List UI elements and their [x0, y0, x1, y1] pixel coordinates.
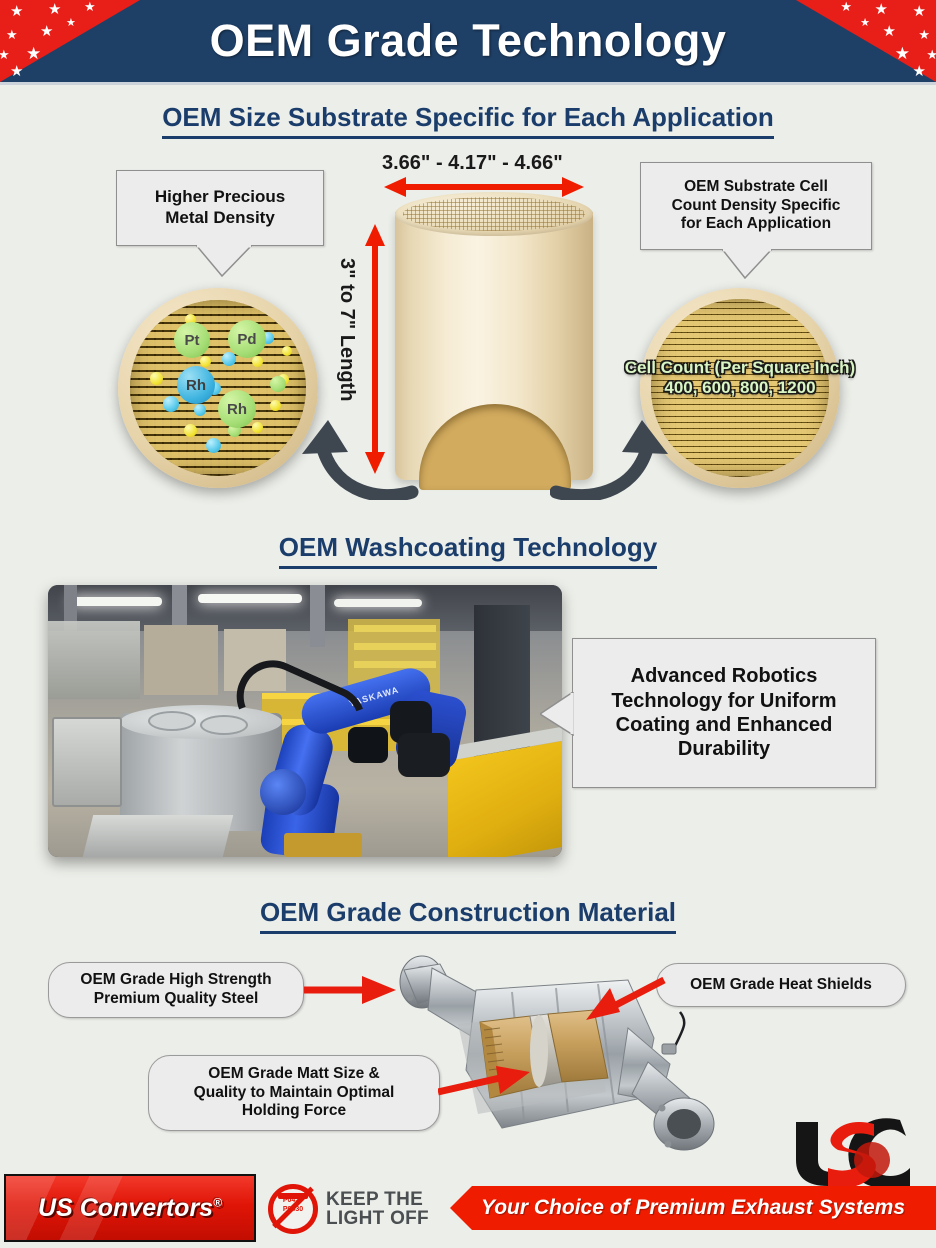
particle-icon — [200, 356, 211, 367]
callout-line: Count Density Specific — [672, 197, 841, 216]
cell-count-text: Cell Count (Per Square Inch) 400, 600, 8… — [590, 358, 890, 397]
callout-oem-substrate-cell-count: OEM Substrate Cell Count Density Specifi… — [640, 162, 872, 250]
page-title: OEM Grade Technology — [0, 0, 936, 82]
particle-icon — [270, 376, 286, 392]
keep-the-light-off-badge: P0420 P0430 KEEP THE LIGHT OFF — [268, 1184, 429, 1234]
callout-line: Advanced Robotics — [631, 664, 818, 688]
callout-line: Metal Density — [165, 208, 275, 229]
callout-heat-shields: OEM Grade Heat Shields — [656, 963, 906, 1007]
callout-tail-right — [722, 249, 772, 279]
callout-line: OEM Substrate Cell — [684, 178, 828, 197]
callout-line: Durability — [678, 737, 770, 761]
particle-icon — [222, 352, 236, 366]
keep-light-line1: KEEP THE — [326, 1190, 429, 1209]
callout-higher-precious-metal-density: Higher Precious Metal Density — [116, 170, 324, 246]
particle-icon — [163, 396, 179, 412]
connector-arrow-left — [290, 400, 420, 500]
washcoating-robot-photo: YASKAWA — [48, 585, 562, 857]
cell-count-line2: 400, 600, 800, 1200 — [590, 378, 890, 398]
callout-line: Premium Quality Steel — [94, 990, 259, 1009]
particle-icon — [252, 356, 263, 367]
metal-label-rh-green: Rh — [218, 390, 256, 428]
callout-advanced-robotics: Advanced Robotics Technology for Uniform… — [572, 638, 876, 788]
footer-tagline: Your Choice of Premium Exhaust Systems — [450, 1186, 936, 1230]
particle-icon — [252, 422, 263, 433]
infographic-page: ★ ★ ★ ★ ★ ★ ★ ★ ★ ★ ★ ★ ★ ★ ★ ★ ★ ★ OEM … — [0, 0, 936, 1248]
callout-matt-size-quality: OEM Grade Matt Size & Quality to Maintai… — [148, 1055, 440, 1131]
section-heading-washcoating: OEM Washcoating Technology — [0, 532, 936, 569]
red-arrow-heat-shields — [586, 974, 666, 1022]
callout-high-strength-steel: OEM Grade High Strength Premium Quality … — [48, 962, 304, 1018]
section-heading-substrate: OEM Size Substrate Specific for Each App… — [0, 102, 936, 139]
particle-icon — [150, 372, 163, 385]
callout-line: Technology for Uniform — [611, 689, 836, 713]
dimension-label-length: 3" to 7" Length — [335, 258, 358, 401]
cylinder-top-face — [395, 192, 593, 236]
page-footer: US Convertors® P0420 P0430 KEEP THE LIGH… — [0, 1170, 936, 1248]
precious-metal-density-inset: Pt Pd Rh Rh — [118, 288, 318, 488]
callout-line: Holding Force — [242, 1102, 346, 1121]
page-header: ★ ★ ★ ★ ★ ★ ★ ★ ★ ★ ★ ★ ★ ★ ★ ★ ★ ★ OEM … — [0, 0, 936, 82]
red-arrow-matt — [438, 1066, 530, 1098]
particle-icon — [206, 438, 221, 453]
particle-icon — [194, 404, 206, 416]
callout-tail-robotics — [540, 692, 574, 736]
connector-arrow-right — [550, 400, 680, 500]
callout-tail-left — [196, 245, 252, 277]
callout-line: OEM Grade Matt Size & — [208, 1065, 379, 1084]
metal-label-pd: Pd — [228, 320, 266, 358]
particle-icon — [270, 400, 281, 411]
callout-line: Quality to Maintain Optimal — [194, 1084, 395, 1103]
header-divider — [0, 82, 936, 85]
metal-label-pt: Pt — [174, 322, 210, 358]
red-arrow-steel — [304, 975, 396, 1005]
callout-line: for Each Application — [681, 215, 831, 234]
keep-light-line2: LIGHT OFF — [326, 1209, 429, 1228]
brand-wordmark: US Convertors® — [38, 1194, 222, 1223]
particle-icon — [184, 424, 197, 437]
callout-line: Higher Precious — [155, 187, 285, 208]
no-check-engine-light-icon: P0420 P0430 — [268, 1184, 318, 1234]
callout-line: Coating and Enhanced — [616, 713, 833, 737]
brand-badge: US Convertors® — [4, 1174, 256, 1242]
dimension-label-diameter: 3.66" - 4.17" - 4.66" — [382, 152, 563, 175]
particle-icon — [282, 346, 292, 356]
callout-line: OEM Grade High Strength — [80, 971, 271, 990]
metal-label-rh-blue: Rh — [177, 366, 215, 404]
callout-line: OEM Grade Heat Shields — [690, 976, 872, 995]
section-heading-construction: OEM Grade Construction Material — [0, 897, 936, 934]
cell-count-line1: Cell Count (Per Square Inch) — [590, 358, 890, 378]
keep-light-text: KEEP THE LIGHT OFF — [326, 1190, 429, 1229]
